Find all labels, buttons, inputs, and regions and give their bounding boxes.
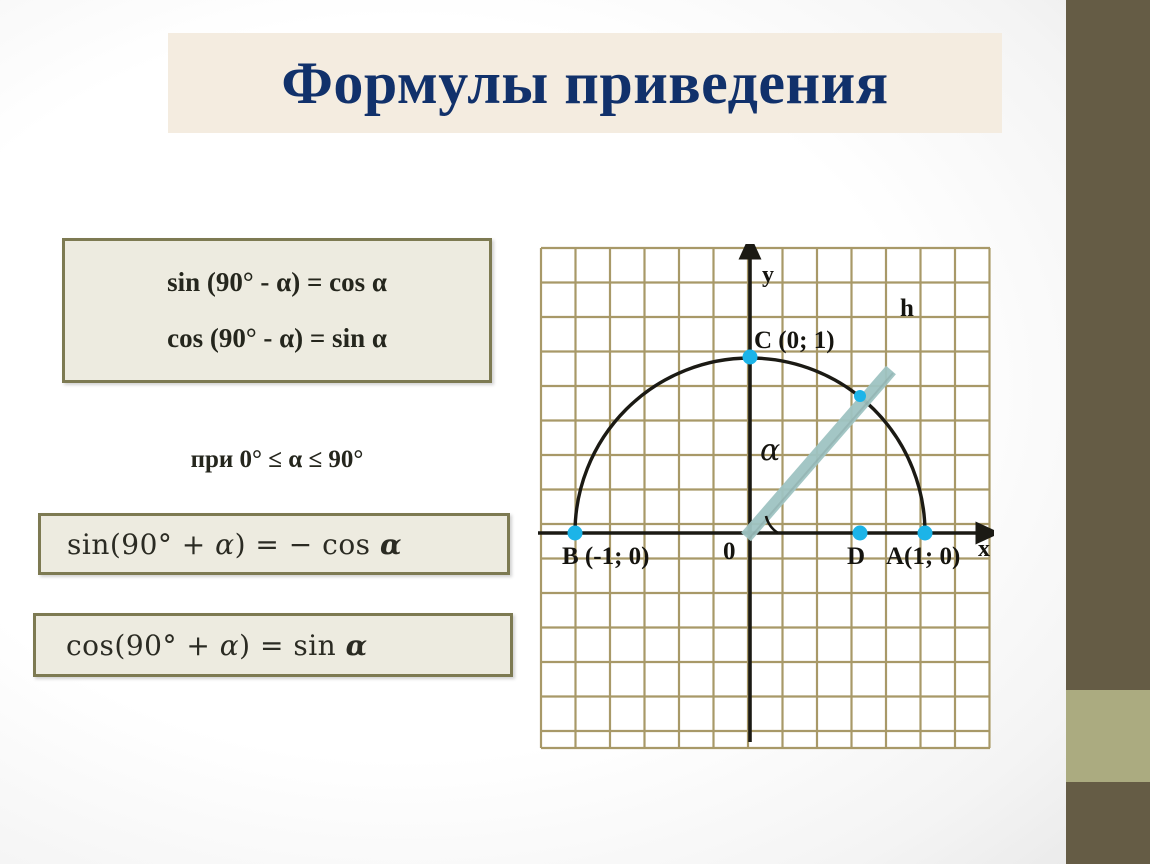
condition-range: при 0° ≤ α ≤ 90° [62, 440, 492, 480]
formula-box-primary: sin (90° - α) = cos α cos (90° - α) = si… [62, 238, 492, 383]
formula-sin-90-minus-alpha: sin (90° - α) = cos α [167, 267, 387, 298]
point-label-a: A(1; 0) [886, 543, 960, 570]
axis-label-y: y [762, 262, 774, 288]
formula-box-cos-90-plus-alpha: cos(90° + α) = sin 𝜶 [33, 613, 513, 677]
page-title: Формулы приведения [168, 33, 1002, 133]
unit-semicircle-diagram: y x 0 h C (0; 1) B (-1; 0) D A(1; 0) α [538, 244, 994, 754]
origin-label: 0 [723, 538, 736, 565]
point-a [918, 526, 933, 541]
point-label-d: D [847, 543, 865, 570]
formula-box-sin-90-plus-alpha: sin(90° + α) = − cos 𝜶 [38, 513, 510, 575]
angle-label-alpha: α [760, 433, 780, 468]
formula-cos-90-minus-alpha: cos (90° - α) = sin α [167, 323, 387, 354]
point-d [853, 526, 868, 541]
axis-label-x: x [978, 536, 990, 562]
point-on-arc [854, 390, 866, 402]
point-label-b: B (-1; 0) [562, 543, 649, 570]
ray-label-h: h [900, 295, 914, 322]
formula-cos-90-plus-alpha: cos(90° + α) = sin 𝜶 [66, 629, 368, 662]
formula-sin-90-plus-alpha: sin(90° + α) = − cos 𝜶 [67, 528, 402, 561]
point-b [568, 526, 583, 541]
slide-root: Формулы приведения sin (90° - α) = cos α… [0, 0, 1150, 864]
point-label-c: C (0; 1) [754, 327, 835, 354]
right-accent-block [1066, 690, 1150, 782]
graph-canvas [541, 248, 991, 748]
